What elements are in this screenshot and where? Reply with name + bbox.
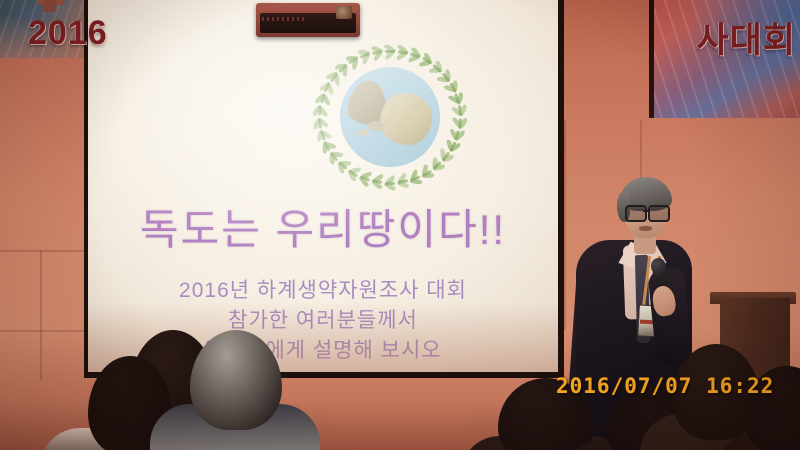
island-rock-small [368, 121, 384, 131]
wreath-stem [385, 50, 395, 53]
speaker-mouth [639, 226, 652, 231]
island-rock-tiny [358, 129, 368, 136]
wreath-stem [385, 182, 395, 185]
ceiling-projector [256, 3, 360, 37]
wall-seam [0, 250, 84, 252]
laurel-wreath-emblem [310, 42, 470, 192]
projector-mount-pole [44, 0, 56, 12]
wall-seam [0, 330, 84, 332]
banner-right-text: 사대회 [696, 12, 796, 63]
projection-screen: 독도는 우리땅이다!! 2016년 하계생약자원조사 대회 참가한 여러분들께서… [88, 0, 558, 372]
camera-timestamp: 2016/07/07 16:22 [556, 374, 774, 398]
island-rock-east [380, 93, 432, 145]
slide-body-line-2: 참가한 여러분들께서 [88, 306, 558, 336]
photograph-scene: 2016 사대회 독도는 우리땅이다!! 2016년 하계생약자원조사 대회 참… [0, 0, 800, 450]
slide-body-line-1: 2016년 하계생약자원조사 대회 [88, 276, 558, 306]
banner-left-text: 2016 [28, 14, 108, 53]
banner-right-edge [649, 0, 654, 118]
speaker-glasses-bridge [643, 210, 649, 212]
slide-title: 독도는 우리땅이다!! [88, 196, 558, 257]
projector-lens [336, 6, 352, 19]
wreath-stem [458, 118, 462, 128]
wall-seam [564, 120, 566, 330]
wreath-stem [458, 106, 462, 116]
speaker-glasses-right-lens [648, 205, 670, 222]
projector-vent [262, 17, 306, 21]
wall-seam [40, 250, 42, 380]
dokdo-island-photo [340, 67, 440, 167]
speaker-glasses-left-lens [625, 205, 647, 222]
